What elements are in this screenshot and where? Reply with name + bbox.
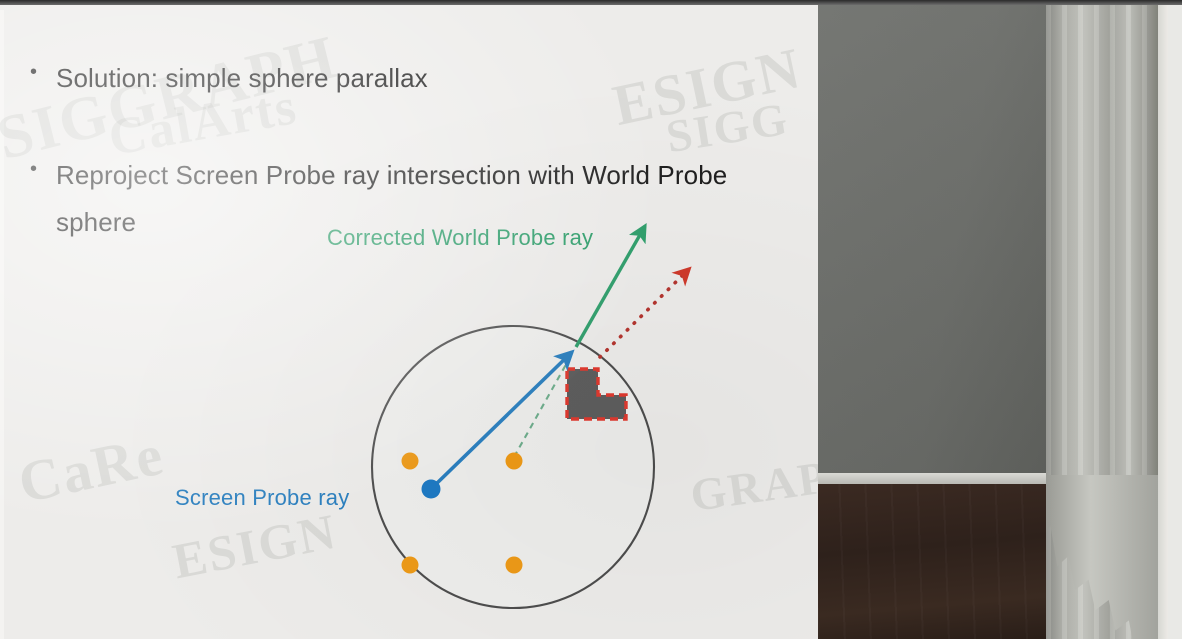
screen-capture: SIGGRAPH CalArts ESIGN SIGG CaRe GRAPH E… (0, 0, 1182, 639)
room-baseboard (818, 473, 1080, 484)
webcam-video-panel[interactable] (818, 5, 1168, 639)
screen-probe-origin-dot (422, 480, 441, 499)
sphere-parallax-diagram: Corrected World Probe ray Screen Probe r… (0, 5, 818, 639)
video-right-edge (1158, 5, 1168, 639)
world-probe-dot (506, 453, 523, 470)
corrected-world-probe-ray-label: Corrected World Probe ray (327, 225, 593, 251)
diagram-canvas (0, 5, 818, 639)
presentation-slide: SIGGRAPH CalArts ESIGN SIGG CaRe GRAPH E… (0, 5, 818, 639)
room-wall (818, 5, 1080, 482)
world-probe-dot (402, 453, 419, 470)
screen-probe-ray-label: Screen Probe ray (175, 485, 349, 511)
world-probe-dot (402, 557, 419, 574)
world-probe-dot (506, 557, 523, 574)
